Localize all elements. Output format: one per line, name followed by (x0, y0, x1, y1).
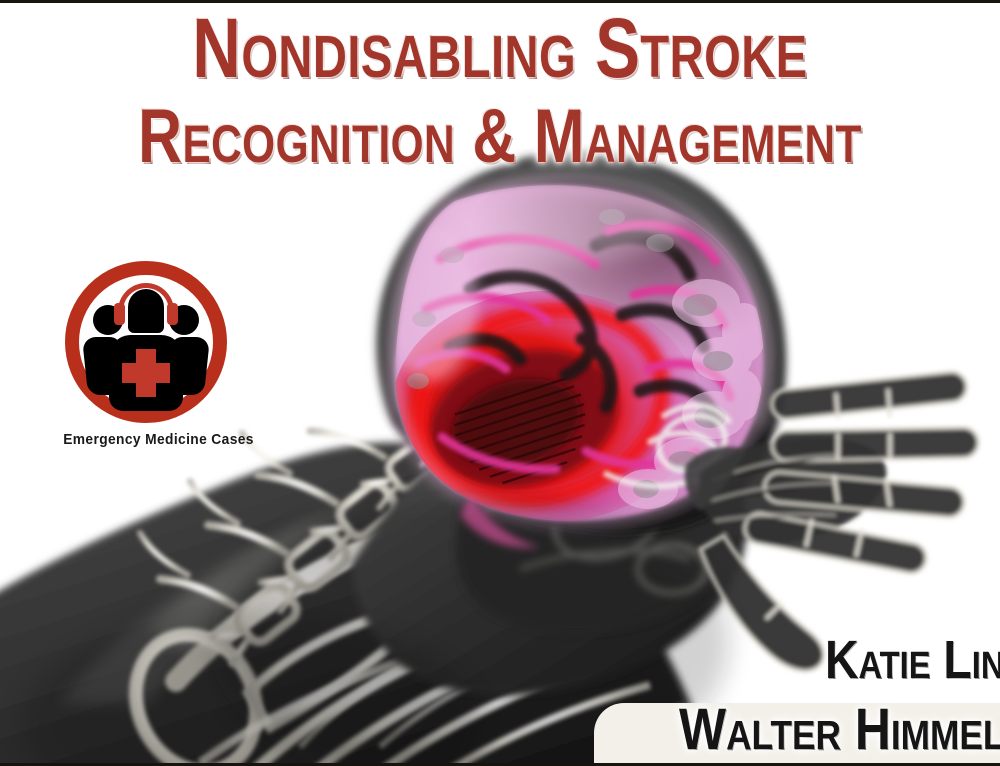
presentation-title-slide: Nondisabling Stroke Recognition & Manage… (0, 0, 1000, 766)
headphone-cup-left-icon (114, 303, 125, 325)
medical-cross-core-horizontal (126, 367, 166, 379)
emergency-medicine-cases-logo[interactable]: Emergency Medicine Cases (56, 261, 236, 448)
headphone-cup-right-icon (167, 303, 178, 325)
logo-caption: Emergency Medicine Cases (63, 431, 229, 448)
person-center-head-icon (128, 289, 164, 333)
logo-ring-icon (65, 261, 227, 423)
